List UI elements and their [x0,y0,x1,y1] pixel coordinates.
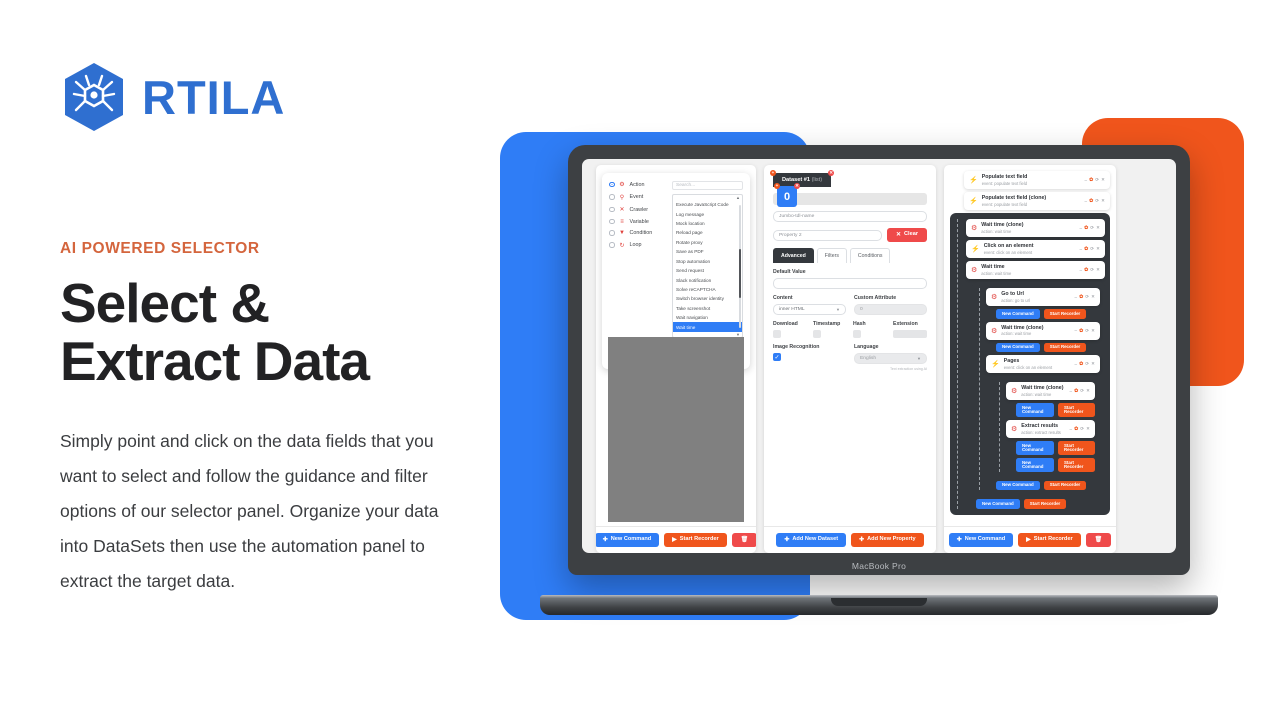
flow-connector [957,219,958,509]
start-recorder-button[interactable]: Start Recorder [1044,481,1087,490]
cursor-icon: ⚲ [619,194,626,201]
node-subtitle: action: go to url [1001,298,1070,303]
command-type-label: Event [630,194,644,200]
node-tools[interactable]: –✿⟳✕ [1085,177,1105,183]
default-value-input[interactable] [773,278,927,289]
node-tools[interactable]: –✿⟳✕ [1070,388,1090,394]
language-value: English [860,356,876,361]
language-label: Language [854,344,927,350]
close-icon[interactable]: ✕ [828,170,834,176]
flow-node[interactable]: ⚙ Wait time (clone) action: wait time –✿… [986,322,1100,340]
event-icon: ⚡ [969,197,978,205]
action-icon: ⚙ [1011,425,1017,433]
node-title: Wait time (clone) [1021,385,1065,392]
node-tools[interactable]: –✿⟳✕ [1080,246,1100,252]
tab-conditions[interactable]: Conditions [850,248,891,263]
start-recorder-button[interactable]: ▶ Start Recorder [1018,533,1080,547]
new-command-button[interactable]: New Command [996,481,1040,490]
content-select[interactable]: inner HTML ▼ [773,304,846,315]
node-subtitle: event: click on an element [1004,365,1071,370]
start-recorder-label: Start Recorder [1034,537,1073,543]
device-label: MacBook Pro [568,561,1190,571]
flow-subgroup: ⚙ Wait time (clone) action: wait time –✿… [992,376,1100,478]
list-item[interactable]: Stop automation [673,257,742,266]
new-command-button[interactable]: New Command [1016,441,1054,455]
command-type-label: Action [630,182,645,188]
flow-node[interactable]: ⚙ Wait time (clone) action: wait time –✿… [1006,382,1095,400]
product-showcase: ⚙ Action ⚲ Event [480,90,1280,650]
timestamp-label: Timestamp [813,321,847,327]
language-select[interactable]: English ▼ [854,353,927,364]
action-icon: ⚙ [991,293,997,301]
action-icon: ⚙ [971,224,977,232]
command-type-event[interactable]: ⚲ Event [609,194,665,201]
dataset-type: (list) [812,177,823,183]
flow-subgroup: ⚙ Go to Url action: go to url –✿⟳✕ [972,282,1105,496]
panel-footer: ✚ New Command ▶ Start Recorder 🗑 [596,526,756,553]
laptop-notch [831,598,927,606]
start-recorder-button[interactable]: Start Recorder [1044,309,1087,318]
list-item[interactable]: Mock location [673,219,742,228]
command-picker-panel: ⚙ Action ⚲ Event [596,165,756,553]
event-icon: ⚡ [991,360,1000,368]
node-subtitle: action: wait time [1001,331,1070,336]
close-icon: ✕ [896,232,901,238]
trash-icon: 🗑 [1095,537,1103,543]
extension-label: Extension [893,321,927,327]
event-icon: ⚡ [969,176,978,184]
flow-connector [979,288,980,490]
list-item[interactable]: Execute JavaScript Code [673,200,742,209]
node-subtitle: event: populate text field [982,202,1081,207]
move-handle-icon[interactable]: + [774,183,780,189]
custom-attribute-label: Custom Attribute [854,295,927,301]
brand-name: RTILA [142,74,285,121]
command-type-label: Crawler [630,207,649,213]
start-recorder-button[interactable]: Start Recorder [1058,441,1095,455]
dataset-preview-row: + ✕ 0 [773,193,927,205]
laptop-base [540,595,1218,615]
automation-flow: ⚡ Populate text field event: populate te… [944,165,1116,521]
node-title: Populate text field (clone) [982,195,1081,202]
default-value-label: Default Value [773,269,927,275]
laptop-mockup: ⚙ Action ⚲ Event [540,145,1218,615]
download-label: Download [773,321,807,327]
dataset-tabs: Advanced Filters Conditions [773,248,927,263]
page-title: Select & Extract Data [60,275,460,391]
new-command-button[interactable]: New Command [1016,458,1054,472]
node-tools[interactable]: –✿⟳✕ [1075,361,1095,367]
close-icon[interactable]: ✕ [794,183,800,189]
command-type-crawler[interactable]: ✕ Crawler [609,206,665,213]
list-item[interactable]: Solve reCAPTCHA [673,285,742,294]
timestamp-checkbox[interactable] [813,330,821,338]
command-type-list: ⚙ Action ⚲ Event [609,181,665,338]
extension-input[interactable] [893,330,927,338]
add-property-label: Add New Property [867,537,916,543]
flow-node[interactable]: ⚙ Wait time action: wait time –✿⟳✕ [966,261,1105,279]
add-dataset-label: Add New Dataset [792,537,838,543]
panel-footer: ✚ New Command ▶ Start Recorder 🗑 [944,526,1116,553]
node-tools[interactable]: –✿⟳✕ [1075,294,1095,300]
filter-icon: ▼ [619,230,626,236]
radio-loop[interactable] [609,242,615,248]
list-item[interactable]: Save as PDF [673,247,742,256]
node-title: Populate text field [982,174,1081,181]
new-command-label: New Command [965,537,1005,543]
command-type-label: Condition [630,230,653,236]
browser-viewport [608,337,744,522]
node-tools[interactable]: –✿⟳✕ [1080,225,1100,231]
command-type-action[interactable]: ⚙ Action [609,181,665,188]
list-item[interactable]: Switch browser identity [673,294,742,303]
badge-value: 0 [784,191,790,203]
radio-action[interactable] [609,182,615,188]
node-tools[interactable]: –✿⟳✕ [1075,328,1095,334]
trash-icon: 🗑 [741,537,749,543]
node-subtitle: event: populate text field [982,181,1081,186]
plus-icon: ✚ [784,537,789,543]
action-icon: ⚙ [1011,387,1017,395]
list-item[interactable]: Wait navigation [673,313,742,322]
laptop-screen: ⚙ Action ⚲ Event [582,159,1176,553]
clear-button[interactable]: ✕ Clear [887,228,927,242]
hero-text-column: RTILA AI POWERED SELECTOR Select & Extra… [60,60,480,599]
spider-hexagon-icon [60,60,128,134]
node-title: Click on an element [984,243,1076,250]
flow-node[interactable]: ⚙ Extract results action: extract result… [1006,420,1095,438]
radio-condition[interactable] [609,230,615,236]
hash-label: Hash [853,321,887,327]
radio-event[interactable] [609,194,615,200]
start-recorder-button[interactable]: Start Recorder [1044,343,1087,352]
radio-crawler[interactable] [609,207,615,213]
radio-variable[interactable] [609,219,615,225]
node-tools[interactable]: –✿⟳✕ [1085,198,1105,204]
dataset-index-badge: + ✕ 0 [777,186,797,207]
new-command-button[interactable]: ✚ New Command [949,533,1013,547]
custom-attribute-input[interactable]: 0 [854,304,927,315]
image-recognition-label: Image Recognition [773,344,846,350]
add-new-dataset-button[interactable]: ✚ Add New Dataset [776,533,846,547]
hero-section: RTILA AI POWERED SELECTOR Select & Extra… [0,0,1280,720]
gear-icon: ⚙ [619,181,626,188]
flow-group: ⚙ Wait time (clone) action: wait time –✿… [950,213,1110,515]
delete-button[interactable]: 🗑 [1086,533,1112,547]
start-recorder-label: Start Recorder [680,537,719,543]
new-command-button[interactable]: ✚ New Command [596,533,659,547]
node-tools[interactable]: –✿⟳✕ [1070,426,1090,432]
new-command-button[interactable]: New Command [996,309,1040,318]
new-command-button[interactable]: New Command [996,343,1040,352]
automation-panel: ⚡ Populate text field event: populate te… [944,165,1116,553]
flow-node[interactable]: ⚡ Click on an element event: click on an… [966,240,1105,258]
plus-icon: ✚ [957,537,962,543]
command-type-condition[interactable]: ▼ Condition [609,230,665,236]
command-type-loop[interactable]: ↻ Loop [609,242,665,249]
list-item[interactable]: Slack notification [673,275,742,284]
custom-attribute-value: 0 [860,307,863,312]
flow-node[interactable]: ⚡ Populate text field (clone) event: pop… [964,192,1110,210]
image-recognition-checkbox[interactable] [773,353,781,361]
node-title: Pages [1004,358,1071,365]
laptop-lid: ⚙ Action ⚲ Event [568,145,1190,575]
list-item[interactable]: Send request [673,266,742,275]
plus-icon: ✚ [603,537,608,543]
property-2-input[interactable]: Property 2 [773,230,882,241]
tab-filters[interactable]: Filters [817,248,847,263]
flow-node[interactable]: ⚡ Pages event: click on an element –✿⟳✕ [986,355,1100,373]
add-new-property-button[interactable]: ✚ Add New Property [851,533,924,547]
list-item[interactable]: Reload page [673,228,742,237]
command-type-label: Loop [630,242,642,248]
node-subtitle: action: wait time [981,271,1075,276]
new-command-label: New Command [611,537,651,543]
chevron-down-icon: ▼ [836,307,840,312]
command-type-label: Variable [630,219,649,225]
brand-logo[interactable]: RTILA [60,60,480,134]
content-value: inner HTML [779,307,805,312]
panel-footer: ✚ Add New Dataset ✚ Add New Property [764,526,936,553]
variable-icon: ≡ [619,219,626,225]
node-tools[interactable]: –✿⟳✕ [1080,267,1100,273]
node-title: Wait time (clone) [1001,325,1070,332]
start-recorder-button[interactable]: Start Recorder [1058,458,1095,472]
play-icon: ▶ [672,537,677,543]
node-title: Extract results [1021,423,1065,430]
command-type-variable[interactable]: ≡ Variable [609,219,665,225]
action-icon: ⚙ [991,327,997,335]
start-recorder-button[interactable]: Start Recorder [1058,403,1095,417]
action-icon: ⚙ [971,266,977,274]
list-item[interactable]: Rotate proxy [673,238,742,247]
dataset-tab[interactable]: + ✕ Dataset #1 (list) [773,173,831,187]
search-input[interactable]: Search... [672,181,743,190]
download-checkbox[interactable] [773,330,781,338]
flow-connector [999,382,1000,472]
crawler-icon: ✕ [619,206,626,213]
tab-advanced[interactable]: Advanced [773,248,814,263]
loop-icon: ↻ [619,242,626,249]
play-icon: ▶ [1026,537,1031,543]
start-recorder-button[interactable]: ▶ Start Recorder [664,533,726,547]
clear-label: Clear [904,232,918,238]
dataset-panel: + ✕ Dataset #1 (list) + ✕ 0 [764,165,936,553]
move-handle-icon[interactable]: + [770,170,776,176]
node-title: Go to Url [1001,291,1070,298]
flow-node[interactable]: ⚡ Populate text field event: populate te… [964,171,1110,189]
event-icon: ⚡ [971,245,980,253]
node-subtitle: event: click on an element [984,250,1076,255]
node-subtitle: action: wait time [1021,392,1065,397]
eyebrow-label: AI POWERED SELECTOR [60,240,480,258]
ai-note: Text extraction using AI [854,367,927,371]
node-subtitle: action: extract results [1021,430,1065,435]
flow-node[interactable]: ⚙ Go to Url action: go to url –✿⟳✕ [986,288,1100,306]
new-command-button[interactable]: New Command [1016,403,1054,417]
node-title: Wait time [981,264,1075,271]
chevron-down-icon: ▼ [917,356,921,361]
new-command-button[interactable]: New Command [976,499,1020,508]
list-item[interactable]: Log message [673,209,742,218]
delete-button[interactable]: 🗑 [732,533,756,547]
node-subtitle: action: wait time [981,229,1075,234]
property-1-input[interactable]: Jumbo-tdl-name [773,211,927,222]
list-item-selected[interactable]: Wait time [673,322,742,331]
node-title: Wait time (clone) [981,222,1075,229]
hash-checkbox[interactable] [853,330,861,338]
command-list[interactable]: ▲ Execute JavaScript Code Log message Mo… [672,194,743,338]
scrollbar[interactable] [739,205,742,328]
start-recorder-button[interactable]: Start Recorder [1024,499,1067,508]
plus-icon: ✚ [859,537,864,543]
content-label: Content [773,295,846,301]
list-item[interactable]: Take screenshot [673,304,742,313]
hero-description: Simply point and click on the data field… [60,424,460,599]
flow-node[interactable]: ⚙ Wait time (clone) action: wait time –✿… [966,219,1105,237]
